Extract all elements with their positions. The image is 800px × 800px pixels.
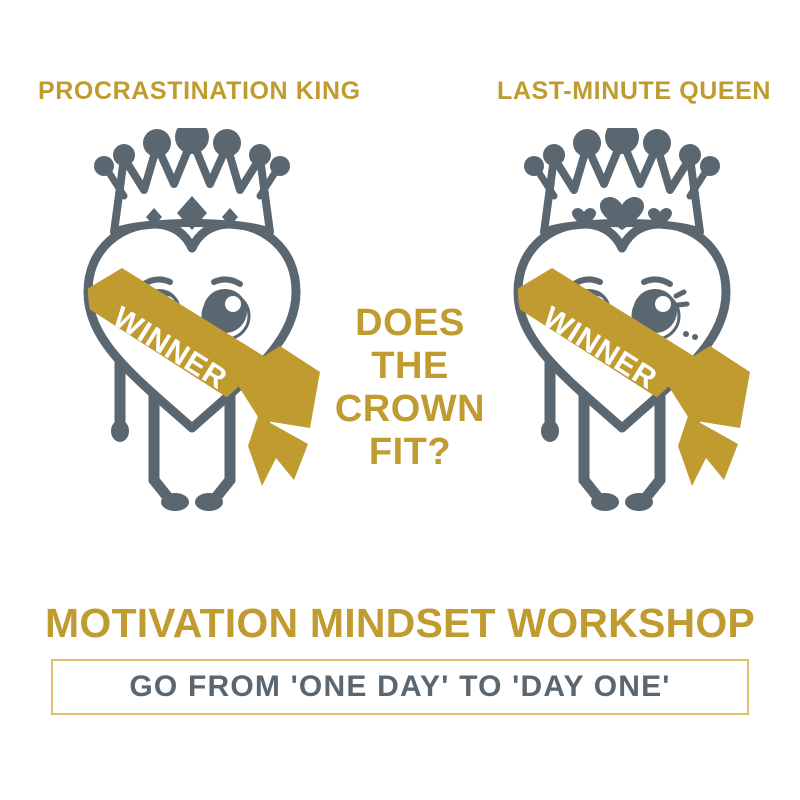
character-label-king: PROCRASTINATION KING [38,77,361,105]
character-king: WINNER [62,128,322,538]
question-line-2: THE [330,345,490,388]
poster-canvas: PROCRASTINATION KING LAST-MINUTE QUEEN [0,0,800,800]
feet-king [161,493,223,511]
character-label-queen: LAST-MINUTE QUEEN [497,77,771,105]
workshop-headline: MOTIVATION MINDSET WORKSHOP [0,600,800,647]
crown-queen [524,128,720,232]
question-line-3: CROWN [330,388,490,431]
crown-king [94,128,290,232]
question-line-4: FIT? [330,431,490,474]
center-question: DOES THE CROWN FIT? [330,302,490,474]
feet-queen [591,493,653,511]
workshop-subtitle: GO FROM 'ONE DAY' TO 'DAY ONE' [53,661,747,713]
character-queen: WINNER [492,128,752,538]
subtitle-box: GO FROM 'ONE DAY' TO 'DAY ONE' [51,659,749,715]
question-line-1: DOES [330,302,490,345]
